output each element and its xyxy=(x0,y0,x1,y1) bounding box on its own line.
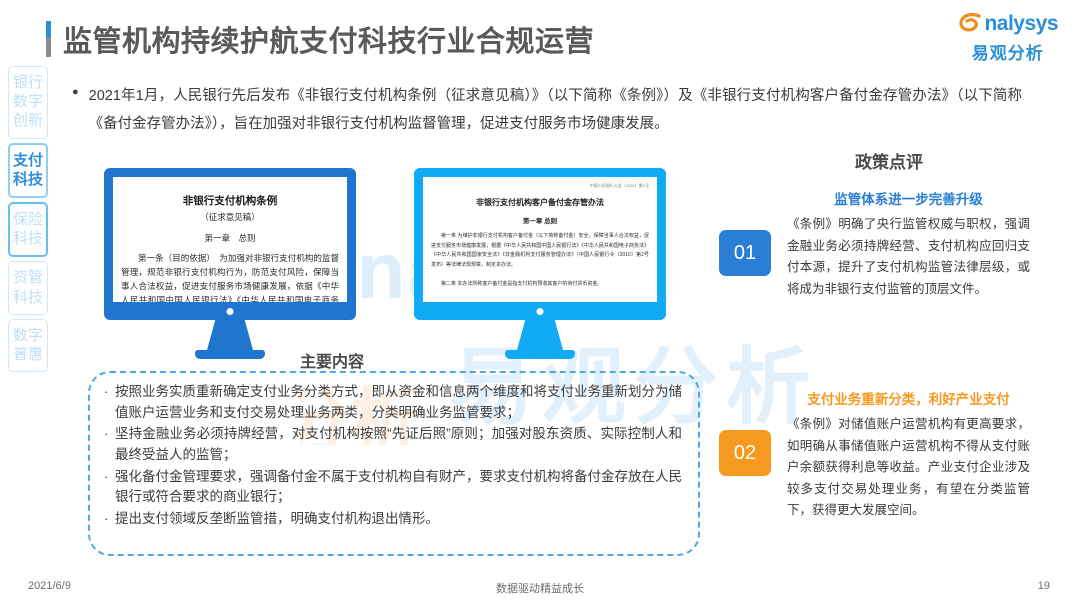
commentary-body: 《条例》明确了央行监管权威与职权，强调金融业务必须持牌经营、支付机构应回归支付本… xyxy=(787,214,1030,300)
monitor-stand-neck xyxy=(207,320,253,350)
commentary-title: 政策点评 xyxy=(855,148,923,173)
list-item: · 提出支付领域反垄断监管措，明确支付机构退出情形。 xyxy=(104,509,682,530)
footer-slogan: 数据驱动精益成长 xyxy=(0,580,1080,596)
sidebar-nav[interactable]: 银行数字创新 支付科技 保险科技 资管科技 数字普惠 xyxy=(8,66,48,376)
list-item: · 坚持金融业务必须持牌经营，对支付机构按照“先证后照”原则；加强对股东资质、实… xyxy=(104,424,682,465)
monitor-indicator-dot xyxy=(227,308,234,315)
monitor-stand-neck xyxy=(517,320,563,350)
analysys-swoosh-icon xyxy=(957,10,983,36)
brand-logo: nalysys 易观分析 xyxy=(957,10,1058,64)
status-badge-01: 01 xyxy=(719,230,771,276)
doc-body: 第一条 为维护非银行支付机构客户备付金（以下简称备付金）安全，保障当事人合法权益… xyxy=(431,232,649,270)
sidebar-item-payment-tech[interactable]: 支付科技 xyxy=(8,143,48,198)
list-bullet-icon: · xyxy=(104,509,115,530)
footer-page-number: 19 xyxy=(1038,580,1050,592)
main-content-heading: 主要内容 xyxy=(300,348,364,372)
doc-subtitle: （征求意见稿） xyxy=(121,211,339,223)
sidebar-item-asset-tech[interactable]: 资管科技 xyxy=(8,261,48,314)
document-preview: 中国人民银行公告〔2021〕第1号 非银行支付机构客户备付金存管办法 第一章 总… xyxy=(423,177,657,302)
list-item-text: 强化备付金管理要求，强调备付金不属于支付机构自有财产，要求支付机构将备付金存放在… xyxy=(115,467,682,508)
doc-stamp: 中国人民银行公告〔2021〕第1号 xyxy=(431,183,649,189)
list-bullet-icon: · xyxy=(104,382,115,423)
list-item: · 强化备付金管理要求，强调备付金不属于支付机构自有财产，要求支付机构将备付金存… xyxy=(104,467,682,508)
commentary-heading: 监管体系进一步完善升级 xyxy=(787,188,1030,208)
intro-text: 2021年1月，人民银行先后发布《非银行支付机构条例（征求意见稿）》（以下简称《… xyxy=(89,82,1022,139)
doc-title: 非银行支付机构条例 xyxy=(121,193,339,208)
list-item-text: 按照业务实质重新确定支付业务分类方式，即从资金和信息两个维度和将支付业务重新划分… xyxy=(115,382,682,423)
sidebar-item-digital-inclusive[interactable]: 数字普惠 xyxy=(8,319,48,372)
commentary-block-2: 支付业务重新分类，利好产业支付 《条例》对储值账户运营机构有更高要求，如明确从事… xyxy=(787,388,1030,522)
list-item: · 按照业务实质重新确定支付业务分类方式，即从资金和信息两个维度和将支付业务重新… xyxy=(104,382,682,423)
doc-chapter: 第一章 总则 xyxy=(121,232,339,244)
list-item-text: 坚持金融业务必须持牌经营，对支付机构按照“先证后照”原则；加强对股东资质、实际控… xyxy=(115,424,682,465)
monitor-indicator-dot xyxy=(537,308,544,315)
doc-body-2: 第二条 本办法所称客户备付金是指支付机构预收其客户的待付货币资金。 xyxy=(431,280,649,290)
logo-wordmark: nalysys xyxy=(984,13,1058,34)
main-content-box: · 按照业务实质重新确定支付业务分类方式，即从资金和信息两个维度和将支付业务重新… xyxy=(88,371,700,556)
page-footer: 2021/6/9 数据驱动精益成长 19 xyxy=(0,580,1080,598)
intro-bullet-icon: ● xyxy=(72,82,79,139)
monitor-screen: 非银行支付机构条例 （征求意见稿） 第一章 总则 第一条（目的依据） 为加强对非… xyxy=(104,168,356,320)
monitor-screen: 中国人民银行公告〔2021〕第1号 非银行支付机构客户备付金存管办法 第一章 总… xyxy=(414,168,666,320)
list-bullet-icon: · xyxy=(104,424,115,465)
commentary-body: 《条例》对储值账户运营机构有更高要求，如明确从事储值账户运营机构不得从支付账户余… xyxy=(787,414,1030,522)
doc-title: 非银行支付机构客户备付金存管办法 xyxy=(431,197,649,208)
doc-body: 第一条（目的依据） 为加强对非银行支付机构的监督管理，规范非银行支付机构行为，防… xyxy=(121,251,339,302)
logo-chinese-name: 易观分析 xyxy=(957,39,1058,64)
monitor-custody-measures: 中国人民银行公告〔2021〕第1号 非银行支付机构客户备付金存管办法 第一章 总… xyxy=(414,168,666,320)
sidebar-item-insurance-tech[interactable]: 保险科技 xyxy=(8,202,48,257)
monitor-stand-base xyxy=(505,350,575,359)
monitor-regulation-draft: 非银行支付机构条例 （征求意见稿） 第一章 总则 第一条（目的依据） 为加强对非… xyxy=(104,168,356,320)
list-item-text: 提出支付领域反垄断监管措，明确支付机构退出情形。 xyxy=(115,509,682,530)
doc-chapter: 第一章 总则 xyxy=(431,215,649,225)
title-accent-bar xyxy=(46,21,51,57)
page-title: 监管机构持续护航支付科技行业合规运营 xyxy=(46,18,594,60)
sidebar-item-bank-digital[interactable]: 银行数字创新 xyxy=(8,66,48,139)
document-preview: 非银行支付机构条例 （征求意见稿） 第一章 总则 第一条（目的依据） 为加强对非… xyxy=(113,177,347,302)
commentary-block-1: 监管体系进一步完善升级 《条例》明确了央行监管权威与职权，强调金融业务必须持牌经… xyxy=(787,188,1030,300)
status-badge-02: 02 xyxy=(719,430,771,476)
monitor-stand-base xyxy=(195,350,265,359)
page-title-text: 监管机构持续护航支付科技行业合规运营 xyxy=(63,18,594,60)
commentary-heading: 支付业务重新分类，利好产业支付 xyxy=(787,388,1030,408)
intro-paragraph: ● 2021年1月，人民银行先后发布《非银行支付机构条例（征求意见稿）》（以下简… xyxy=(72,82,1022,139)
list-bullet-icon: · xyxy=(104,467,115,508)
